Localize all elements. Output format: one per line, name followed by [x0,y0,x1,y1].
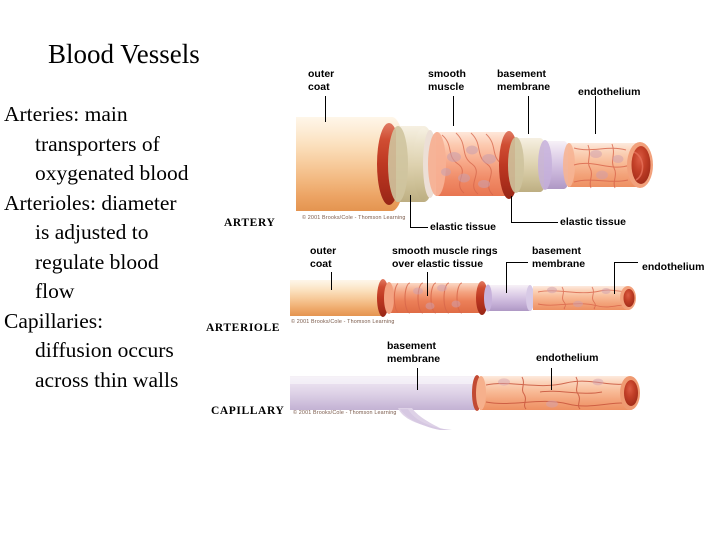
leader-capillary-endothelium [551,368,552,390]
capillary-lumen [624,380,638,406]
slide-canvas: Blood Vessels Arteries: main transporter… [0,0,720,540]
label-arteriole-basement-membrane: basement membrane [532,245,585,270]
label-artery-endothelium: endothelium [578,86,640,99]
leader-artery-elastic-tissue-1-v [410,195,411,227]
copyright-arteriole: © 2001 Brooks/Cole - Thomson Learning [291,319,395,325]
list-item: Arterioles: diameter is adjusted to regu… [4,189,234,307]
bullet-line: regulate blood [4,248,234,278]
page-title: Blood Vessels [48,38,200,70]
vessel-label-arteriole: ARTERIOLE [206,322,280,334]
label-capillary-endothelium: endothelium [536,352,598,365]
capillary-svg [290,368,660,430]
leader-arteriole-outer-coat [331,272,332,290]
label-artery-elastic-tissue-2: elastic tissue [560,216,626,229]
leader-arteriole-endothelium-v [614,262,615,294]
arteriole-illustration [290,277,660,323]
list-item: Capillaries: diffusion occurs across thi… [4,307,234,396]
leader-artery-basement-membrane [528,96,529,134]
vessel-label-artery: ARTERY [224,217,275,229]
leader-arteriole-smooth-muscle-rings [427,272,428,296]
bullet-line: across thin walls [4,366,234,396]
label-arteriole-outer-coat: outer coat [310,245,336,270]
bullet-line: oxygenated blood [4,159,234,189]
leader-artery-smooth-muscle [453,96,454,126]
copyright-capillary: © 2001 Brooks/Cole - Thomson Learning [293,410,397,416]
bullet-lead: Arteries: main [4,100,234,130]
copyright-artery: © 2001 Brooks/Cole - Thomson Learning [302,215,406,221]
label-artery-smooth-muscle: smooth muscle [428,68,466,93]
bullet-lead: Capillaries: [4,307,234,337]
leader-arteriole-basement-membrane-v [506,262,507,293]
bullet-lead: Arterioles: diameter [4,189,234,219]
vessel-label-capillary: CAPILLARY [211,405,284,417]
bullet-line: transporters of [4,130,234,160]
artery-illustration [296,112,668,216]
bullet-line: diffusion occurs [4,336,234,366]
bullet-list: Arteries: main transporters of oxygenate… [4,100,234,395]
leader-artery-endothelium [595,96,596,134]
arteriole-svg [290,277,660,323]
bullet-line: is adjusted to [4,218,234,248]
leader-arteriole-basement-membrane-h [506,262,528,263]
label-artery-basement-membrane: basement membrane [497,68,550,93]
label-arteriole-smooth-muscle-rings: smooth muscle rings over elastic tissue [392,245,498,270]
leader-capillary-basement-membrane [417,368,418,390]
leader-artery-elastic-tissue-2-h [511,222,558,223]
leader-artery-outer-coat [325,96,326,122]
leader-artery-elastic-tissue-1-h [410,227,428,228]
arteriole-outer-coat-layer [290,280,388,316]
label-arteriole-endothelium: endothelium [642,261,704,274]
capillary-illustration [290,368,660,430]
label-artery-outer-coat: outer coat [308,68,334,93]
leader-arteriole-endothelium-h [614,262,638,263]
leader-artery-elastic-tissue-2-v [511,196,512,222]
list-item: Arteries: main transporters of oxygenate… [4,100,234,189]
artery-svg [296,112,668,216]
label-capillary-basement-membrane: basement membrane [387,340,440,365]
arteriole-smooth-muscle-layer [388,283,485,313]
arteriole-lumen [624,289,635,307]
label-artery-elastic-tissue-1: elastic tissue [430,221,496,234]
bullet-line: flow [4,277,234,307]
